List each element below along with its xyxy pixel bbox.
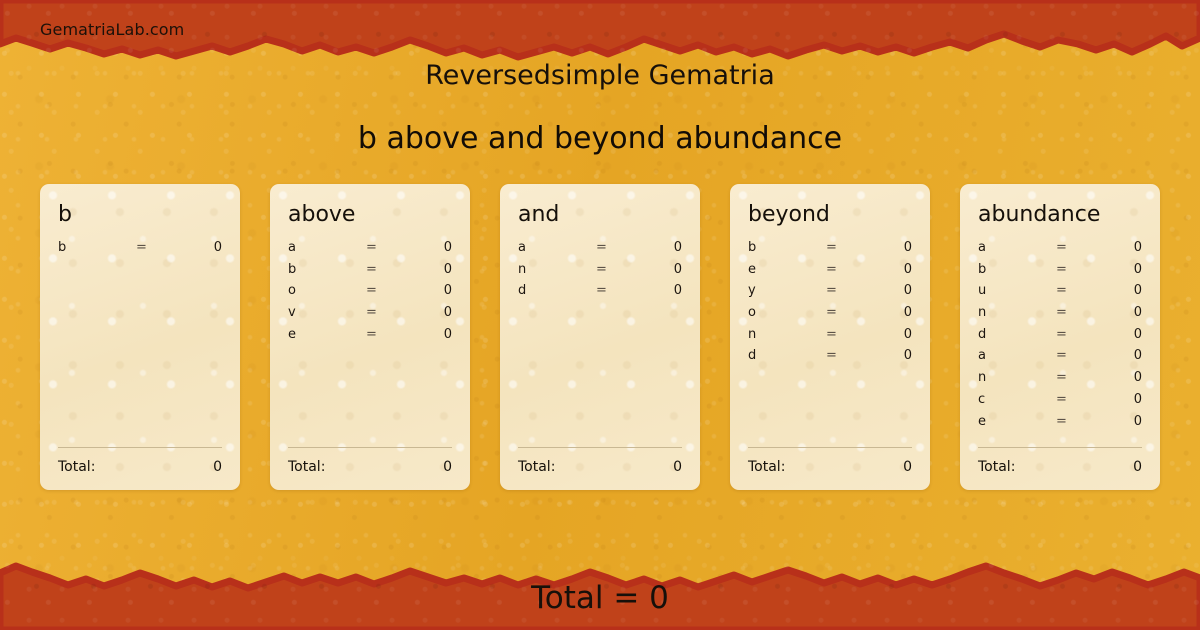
card-word: abundance: [978, 202, 1142, 228]
letter-value-row: o=0: [288, 283, 452, 305]
equals-sign: =: [826, 348, 870, 363]
equals-sign: =: [826, 240, 870, 255]
letter-value: 0: [870, 262, 912, 277]
equals-sign: =: [136, 240, 180, 255]
card-total-label: Total:: [748, 459, 785, 475]
equals-sign: =: [1056, 348, 1100, 363]
letter-value-row: y=0: [748, 283, 912, 305]
letter: n: [748, 327, 826, 342]
card-total-row: Total:0: [288, 459, 452, 475]
letter: o: [748, 305, 826, 320]
equals-sign: =: [596, 262, 640, 277]
equals-sign: =: [596, 283, 640, 298]
letter-value: 0: [1100, 240, 1142, 255]
letter-value-list: a=0b=0o=0v=0e=0: [288, 240, 452, 348]
letter-value: 0: [870, 327, 912, 342]
letter-value-row: a=0: [978, 348, 1142, 370]
card-total-row: Total:0: [518, 459, 682, 475]
equals-sign: =: [1056, 283, 1100, 298]
letter-value: 0: [1100, 370, 1142, 385]
equals-sign: =: [366, 327, 410, 342]
site-logo[interactable]: GematriaLab.com: [40, 20, 184, 39]
letter-value-list: a=0b=0u=0n=0d=0a=0n=0c=0e=0: [978, 240, 1142, 435]
card-footer: Total:0: [518, 447, 682, 475]
card-word: b: [58, 202, 222, 228]
card-total-label: Total:: [978, 459, 1015, 475]
card-footer: Total:0: [978, 447, 1142, 475]
letter: a: [978, 348, 1056, 363]
letter-value-row: a=0: [978, 240, 1142, 262]
letter-value: 0: [1100, 283, 1142, 298]
word-card-list: bb=0Total:0abovea=0b=0o=0v=0e=0Total:0an…: [40, 184, 1160, 490]
letter-value: 0: [870, 240, 912, 255]
letter-value-list: a=0n=0d=0: [518, 240, 682, 305]
equals-sign: =: [1056, 262, 1100, 277]
letter-value-row: u=0: [978, 283, 1142, 305]
card-divider: [58, 447, 222, 448]
letter: v: [288, 305, 366, 320]
card-divider: [518, 447, 682, 448]
word-card: anda=0n=0d=0Total:0: [500, 184, 700, 490]
card-total-row: Total:0: [58, 459, 222, 475]
letter: n: [978, 305, 1056, 320]
letter-value: 0: [1100, 348, 1142, 363]
phrase-title: b above and beyond abundance: [0, 121, 1200, 156]
card-word: and: [518, 202, 682, 228]
card-total-value: 0: [213, 459, 222, 475]
equals-sign: =: [366, 240, 410, 255]
letter-value: 0: [1100, 262, 1142, 277]
letter: d: [748, 348, 826, 363]
word-card: bb=0Total:0: [40, 184, 240, 490]
card-total-label: Total:: [518, 459, 555, 475]
letter-value-row: b=0: [978, 262, 1142, 284]
equals-sign: =: [366, 305, 410, 320]
letter-value-row: e=0: [288, 327, 452, 349]
letter-value-row: b=0: [748, 240, 912, 262]
letter-value: 0: [410, 240, 452, 255]
equals-sign: =: [1056, 327, 1100, 342]
letter: a: [518, 240, 596, 255]
letter: d: [518, 283, 596, 298]
card-total-label: Total:: [288, 459, 325, 475]
letter-value: 0: [1100, 392, 1142, 407]
letter-value: 0: [870, 305, 912, 320]
letter: n: [978, 370, 1056, 385]
letter-value: 0: [1100, 327, 1142, 342]
letter: b: [978, 262, 1056, 277]
letter-value: 0: [640, 283, 682, 298]
equals-sign: =: [1056, 240, 1100, 255]
letter-value: 0: [870, 283, 912, 298]
word-card: beyondb=0e=0y=0o=0n=0d=0Total:0: [730, 184, 930, 490]
letter-value-row: n=0: [748, 327, 912, 349]
letter-value-row: e=0: [748, 262, 912, 284]
letter-value-row: a=0: [288, 240, 452, 262]
letter: d: [978, 327, 1056, 342]
letter-value: 0: [640, 240, 682, 255]
letter-value-row: e=0: [978, 414, 1142, 436]
card-total-value: 0: [1133, 459, 1142, 475]
letter-value: 0: [640, 262, 682, 277]
letter-value-row: c=0: [978, 392, 1142, 414]
letter-value: 0: [410, 283, 452, 298]
letter-value: 0: [1100, 305, 1142, 320]
letter: e: [288, 327, 366, 342]
letter: n: [518, 262, 596, 277]
equals-sign: =: [366, 283, 410, 298]
letter-value: 0: [1100, 414, 1142, 429]
letter: u: [978, 283, 1056, 298]
word-card: abovea=0b=0o=0v=0e=0Total:0: [270, 184, 470, 490]
letter-value-list: b=0: [58, 240, 222, 262]
equals-sign: =: [366, 262, 410, 277]
letter: a: [288, 240, 366, 255]
equals-sign: =: [1056, 370, 1100, 385]
card-word: above: [288, 202, 452, 228]
letter-value-row: n=0: [978, 305, 1142, 327]
letter-value-row: v=0: [288, 305, 452, 327]
card-divider: [748, 447, 912, 448]
card-footer: Total:0: [288, 447, 452, 475]
letter-value-row: d=0: [748, 348, 912, 370]
letter: e: [978, 414, 1056, 429]
letter: b: [288, 262, 366, 277]
card-total-value: 0: [673, 459, 682, 475]
card-total-row: Total:0: [748, 459, 912, 475]
equals-sign: =: [1056, 305, 1100, 320]
word-card: abundancea=0b=0u=0n=0d=0a=0n=0c=0e=0Tota…: [960, 184, 1160, 490]
card-divider: [288, 447, 452, 448]
card-divider: [978, 447, 1142, 448]
letter-value-row: a=0: [518, 240, 682, 262]
letter-value-list: b=0e=0y=0o=0n=0d=0: [748, 240, 912, 370]
letter-value-row: d=0: [978, 327, 1142, 349]
cipher-title: Reversedsimple Gematria: [0, 60, 1200, 91]
letter-value: 0: [410, 305, 452, 320]
card-footer: Total:0: [748, 447, 912, 475]
equals-sign: =: [826, 327, 870, 342]
equals-sign: =: [826, 305, 870, 320]
letter-value: 0: [870, 348, 912, 363]
grand-total: Total = 0: [0, 580, 1200, 616]
letter: e: [748, 262, 826, 277]
letter: b: [58, 240, 136, 255]
letter: o: [288, 283, 366, 298]
letter-value-row: n=0: [978, 370, 1142, 392]
equals-sign: =: [826, 262, 870, 277]
letter: y: [748, 283, 826, 298]
letter-value-row: d=0: [518, 283, 682, 305]
letter-value: 0: [180, 240, 222, 255]
equals-sign: =: [1056, 414, 1100, 429]
letter: a: [978, 240, 1056, 255]
card-total-value: 0: [443, 459, 452, 475]
letter-value-row: n=0: [518, 262, 682, 284]
letter-value-row: o=0: [748, 305, 912, 327]
letter: b: [748, 240, 826, 255]
letter-value: 0: [410, 327, 452, 342]
letter-value-row: b=0: [58, 240, 222, 262]
gematria-result-page: GematriaLab.com Reversedsimple Gematria …: [0, 0, 1200, 630]
equals-sign: =: [826, 283, 870, 298]
letter: c: [978, 392, 1056, 407]
card-footer: Total:0: [58, 447, 222, 475]
card-word: beyond: [748, 202, 912, 228]
card-total-label: Total:: [58, 459, 95, 475]
equals-sign: =: [596, 240, 640, 255]
card-total-row: Total:0: [978, 459, 1142, 475]
equals-sign: =: [1056, 392, 1100, 407]
letter-value-row: b=0: [288, 262, 452, 284]
card-total-value: 0: [903, 459, 912, 475]
letter-value: 0: [410, 262, 452, 277]
